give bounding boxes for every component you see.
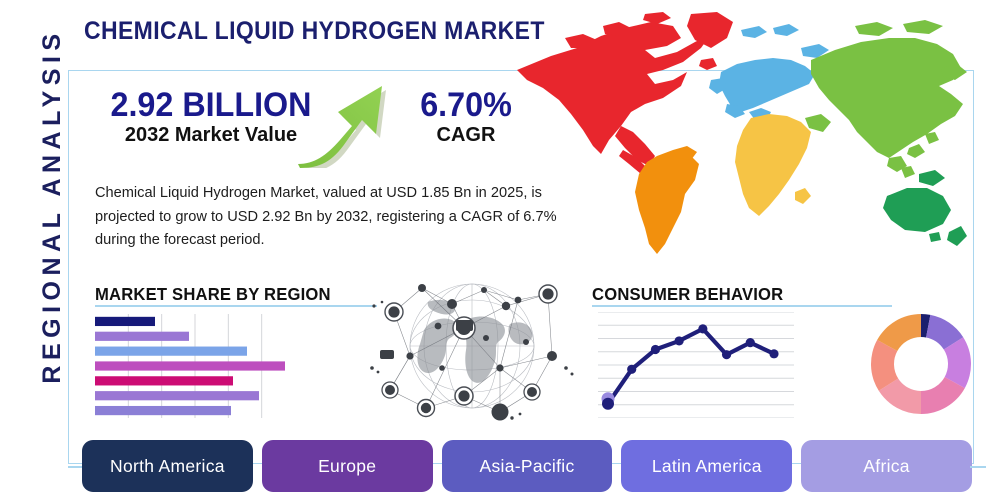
consumer-behavior-rule [592,305,892,307]
line-chart-gridlines [598,312,794,418]
market-share-bar-chart [95,314,295,418]
kpi-market-value-number: 2.92 BILLION [102,88,321,124]
regional-share-donut-chart [868,311,974,417]
region-button-label: Asia-Pacific [479,456,574,477]
region-button-asia-pacific[interactable]: Asia-Pacific [442,440,613,492]
region-button-label: Latin America [652,456,762,477]
region-button-north-america[interactable]: North America [82,440,253,492]
region-button-label: North America [110,456,225,477]
infographic-root: REGIONAL ANALYSIS CHEMICAL LIQUID HYDROG… [0,0,1000,500]
region-button-europe[interactable]: Europe [262,440,433,492]
market-share-heading: MARKET SHARE BY REGION [95,284,331,305]
region-button-africa[interactable]: Africa [801,440,972,492]
page-title: CHEMICAL LIQUID HYDROGEN MARKET [84,17,545,46]
growth-arrow-up-icon [296,80,402,168]
bar-chart-bars [95,317,285,415]
donut-slices [871,314,971,414]
kpi-market-value-label: 2032 Market Value [96,124,326,147]
global-network-globe-icon [366,272,578,422]
world-map-icon [505,8,975,270]
region-button-label: Africa [863,456,910,477]
consumer-behavior-line-chart [598,312,794,418]
kpi-market-value: 2.92 BILLION 2032 Market Value [96,88,326,147]
region-button-latin-america[interactable]: Latin America [621,440,792,492]
region-buttons-bar: North AmericaEuropeAsia-PacificLatin Ame… [82,440,972,492]
vertical-section-label: REGIONAL ANALYSIS [38,0,78,416]
region-connector-end [970,466,986,468]
market-share-rule [95,305,377,307]
region-button-label: Europe [318,456,376,477]
consumer-behavior-heading: CONSUMER BEHAVIOR [592,284,783,305]
